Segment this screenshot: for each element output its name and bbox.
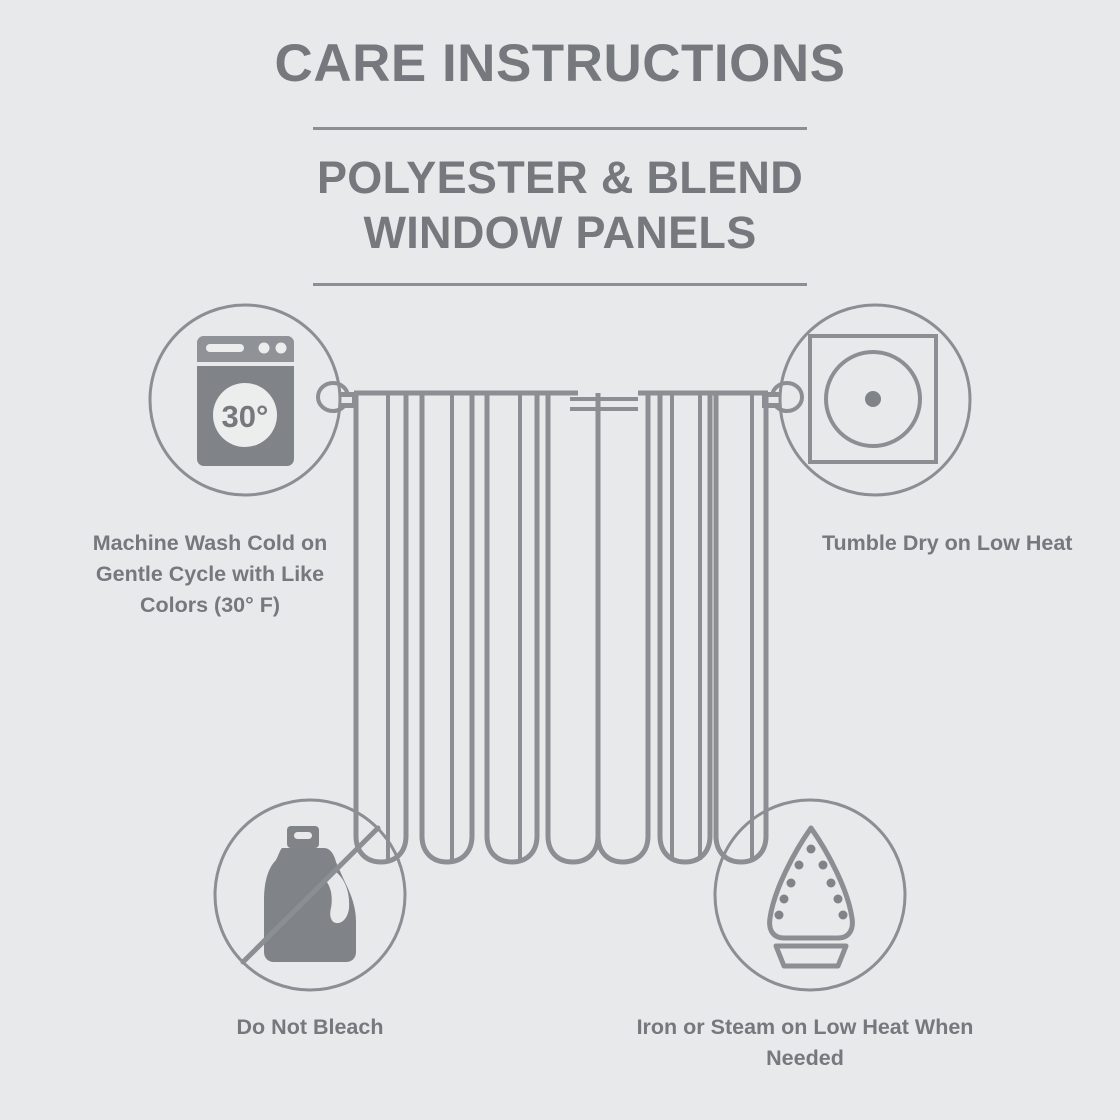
iron-base <box>776 946 846 966</box>
curtain-panel-left <box>340 391 598 862</box>
low-heat-dot <box>865 391 881 407</box>
curtain-panel-right <box>598 393 768 862</box>
tumble-dry-icon <box>810 336 936 462</box>
washing-machine-icon: 30° <box>197 336 294 466</box>
iron-icon <box>770 828 853 966</box>
wash-temperature-label: 30° <box>222 399 269 434</box>
care-instructions-infographic: CARE INSTRUCTIONS POLYESTER & BLEND WIND… <box>0 0 1120 1120</box>
illustration-layer: 30° <box>0 0 1120 1120</box>
curtain-rod <box>318 383 802 411</box>
